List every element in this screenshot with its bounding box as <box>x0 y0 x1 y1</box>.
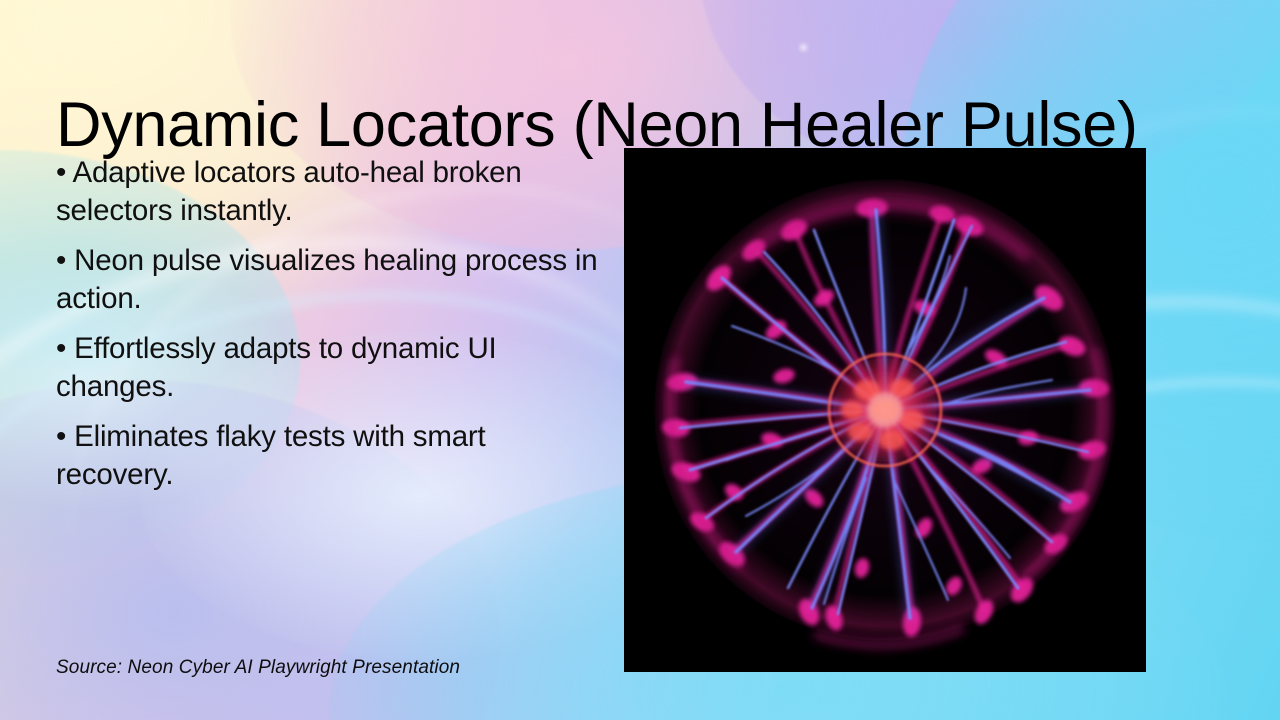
bullet-item-3: • Effortlessly adapts to dynamic UI chan… <box>56 330 604 405</box>
bullet-item-2: • Neon pulse visualizes healing process … <box>56 242 604 317</box>
bullet-item-4: • Eliminates flaky tests with smart reco… <box>56 418 604 493</box>
bullet-item-1: • Adaptive locators auto-heal broken sel… <box>56 154 604 229</box>
plasma-ball-image <box>624 148 1146 672</box>
presentation-slide: Dynamic Locators (Neon Healer Pulse) • A… <box>0 0 1280 720</box>
plasma-ball-illustration <box>624 148 1146 672</box>
source-caption: Source: Neon Cyber AI Playwright Present… <box>56 657 460 679</box>
bullet-list: • Adaptive locators auto-heal broken sel… <box>56 154 604 493</box>
background-light-speck <box>800 44 807 51</box>
plasma-core-center <box>867 392 903 428</box>
